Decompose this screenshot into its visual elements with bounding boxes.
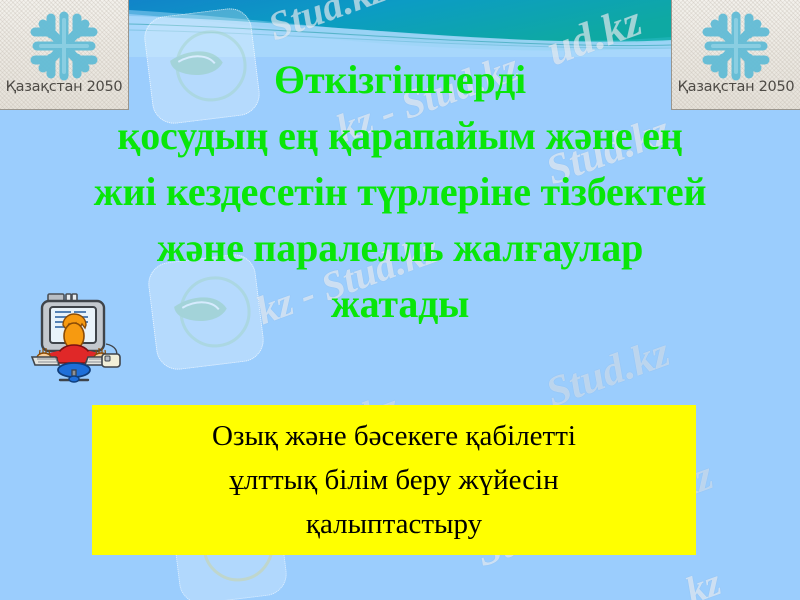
title-line: Өткізгіштерді — [0, 52, 800, 108]
watermark-text: kz — [680, 560, 727, 600]
decorative-wave-banner — [129, 0, 671, 57]
slide-title: Өткізгіштерді қосудың ең қарапайым және … — [0, 52, 800, 332]
callout-line: Озық және бәсекеге қабілетті — [92, 414, 696, 458]
callout-line: қалыптастыру — [92, 502, 696, 546]
title-line: жатады — [0, 276, 800, 332]
watermark-text: Stud.kz — [540, 328, 676, 417]
title-line: қосудың ең қарапайым және ең — [0, 108, 800, 164]
yellow-callout-box: Озық және бәсекеге қабілетті ұлттық білі… — [92, 405, 696, 555]
title-line: жиі кездесетін түрлеріне тізбектей — [0, 164, 800, 220]
presentation-slide: Қазақстан 2050 Қ — [0, 0, 800, 600]
title-line: және паралелль жалғаулар — [0, 220, 800, 276]
callout-line: ұлттық білім беру жүйесін — [92, 458, 696, 502]
